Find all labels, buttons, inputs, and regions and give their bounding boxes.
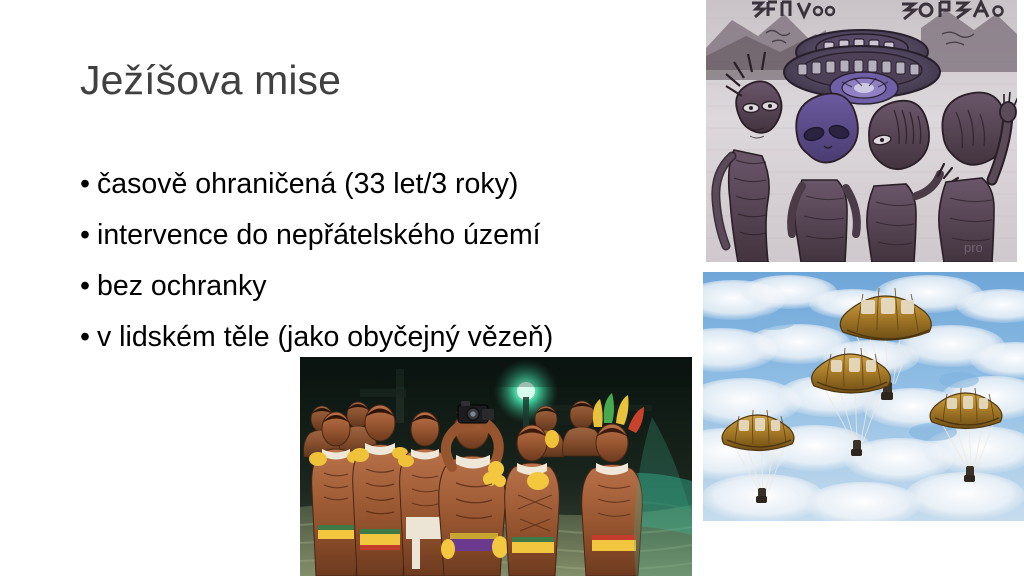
- list-item-label: intervence do nepřátelského území: [97, 219, 541, 251]
- image-paratroopers-photo: [703, 272, 1024, 521]
- paratroopers-artwork: [703, 272, 1024, 521]
- page-title: Ježíšova mise: [80, 58, 680, 103]
- bullet-dot-icon: •: [80, 210, 90, 261]
- image-aliens-ufo-drawing: pro: [706, 0, 1017, 262]
- bullet-dot-icon: •: [80, 312, 90, 363]
- list-item: • časově ohraničená (33 let/3 roky): [80, 159, 700, 210]
- bullet-dot-icon: •: [80, 159, 90, 210]
- bullet-dot-icon: •: [80, 261, 90, 312]
- list-item-label: bez ochranky: [97, 270, 267, 302]
- aliens-ufo-artwork: pro: [706, 0, 1017, 262]
- bullet-list: • časově ohraničená (33 let/3 roky) • in…: [80, 159, 700, 363]
- list-item-label: časově ohraničená (33 let/3 roky): [97, 168, 518, 200]
- slide-canvas: Ježíšova mise • časově ohraničená (33 le…: [0, 0, 1024, 576]
- image-indigenous-group-photo: [300, 357, 692, 576]
- list-item: • bez ochranky: [80, 261, 700, 312]
- indigenous-group-artwork: [300, 357, 692, 576]
- list-item: • v lidském těle (jako obyčejný vězeň): [80, 312, 700, 363]
- svg-text:pro: pro: [964, 240, 983, 255]
- list-item: • intervence do nepřátelského území: [80, 210, 700, 261]
- list-item-label: v lidském těle (jako obyčejný vězeň): [97, 321, 553, 353]
